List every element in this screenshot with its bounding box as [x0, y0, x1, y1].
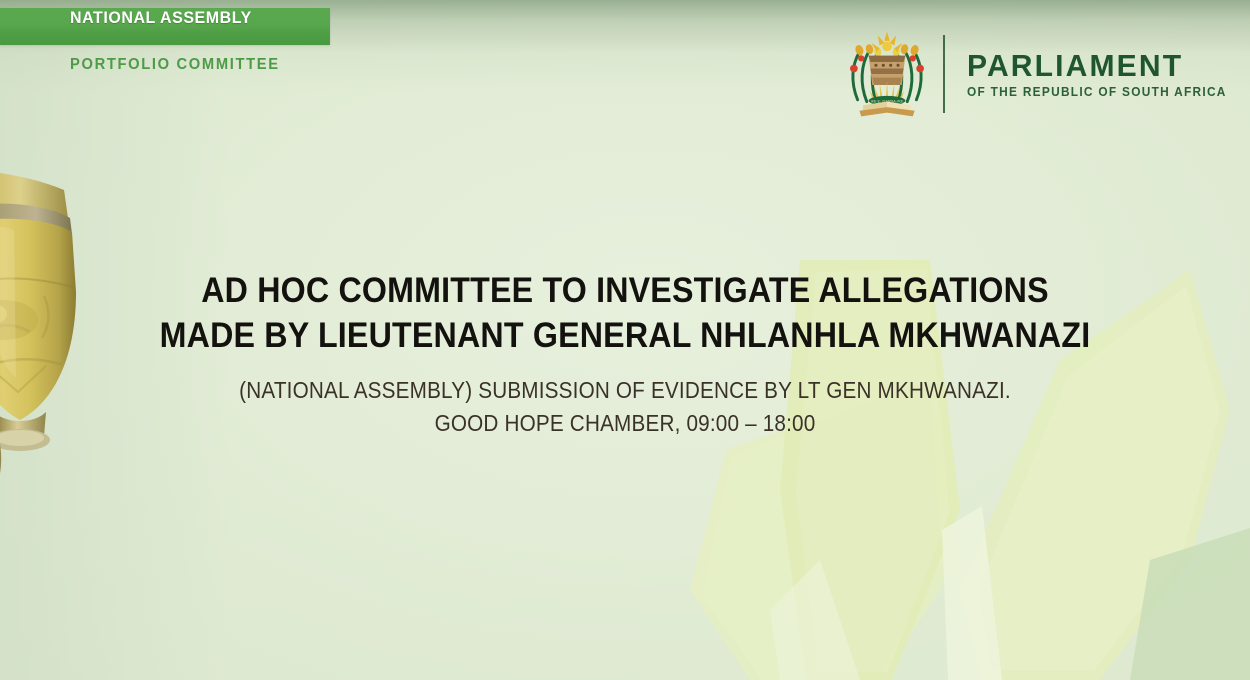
slide-text-block: AD HOC COMMITTEE TO INVESTIGATE ALLEGATI… [0, 268, 1250, 440]
title-subtitle-spacer [0, 358, 1250, 374]
logo-wordmark: PARLIAMENT [967, 50, 1232, 81]
portfolio-committee-label: PORTFOLIO COMMITTEE [70, 56, 280, 74]
coat-of-arms-icon: !KE E: /XARRA //KE [841, 28, 933, 120]
logo-tagline: OF THE REPUBLIC OF SOUTH AFRICA [967, 86, 1227, 99]
slide-subtitle-line-2: GOOD HOPE CHAMBER, 09:00 – 18:00 [63, 407, 1188, 440]
banner-label: NATIONAL ASSEMBLY [70, 8, 252, 28]
slide-canvas: NATIONAL ASSEMBLY PORTFOLIO COMMITTEE [0, 0, 1250, 680]
parliament-logo: !KE E: /XARRA //KE PARLIAMENT OF THE REP… [841, 28, 1240, 120]
slide-subtitle-line-1: (NATIONAL ASSEMBLY) SUBMISSION OF EVIDEN… [63, 374, 1188, 407]
slide-title-line-2: MADE BY LIEUTENANT GENERAL NHLANHLA MKHW… [50, 313, 1200, 358]
logo-divider [943, 35, 945, 113]
slide-title-line-1: AD HOC COMMITTEE TO INVESTIGATE ALLEGATI… [50, 268, 1200, 313]
